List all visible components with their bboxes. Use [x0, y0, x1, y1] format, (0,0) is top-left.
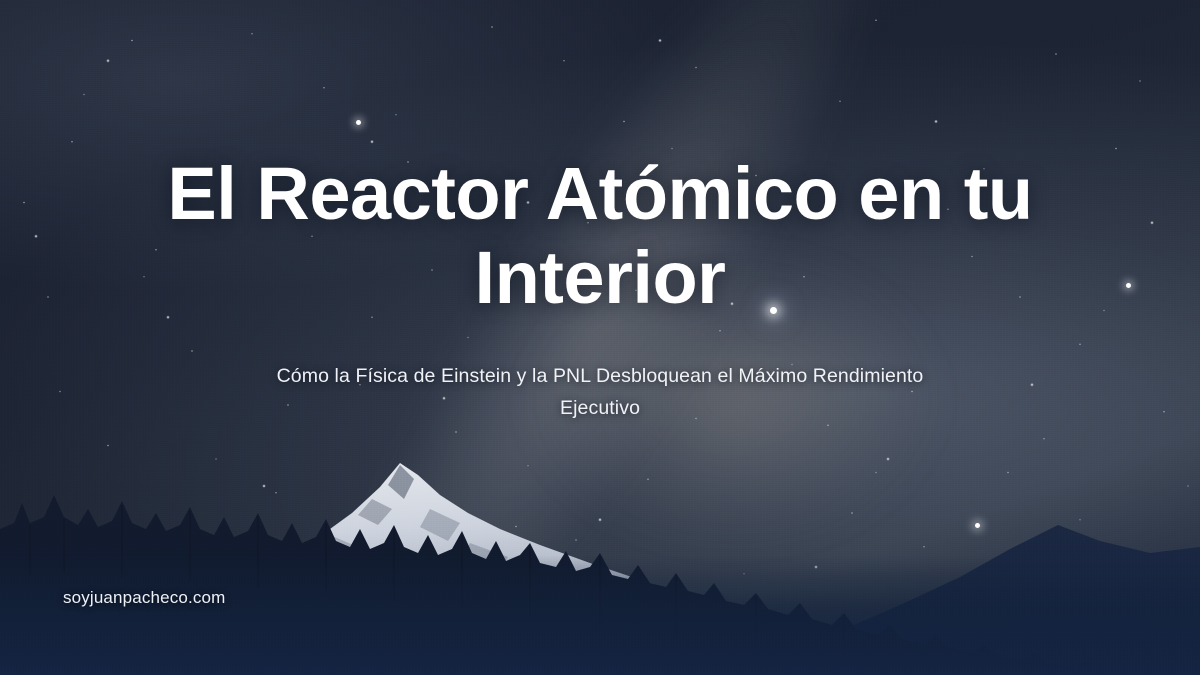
page-title: El Reactor Atómico en tu Interior	[110, 152, 1090, 319]
presentation-slide: El Reactor Atómico en tu Interior Cómo l…	[0, 0, 1200, 675]
footer-website-url: soyjuanpacheco.com	[63, 588, 225, 608]
slide-content: El Reactor Atómico en tu Interior Cómo l…	[0, 0, 1200, 675]
page-subtitle: Cómo la Física de Einstein y la PNL Desb…	[250, 361, 950, 424]
